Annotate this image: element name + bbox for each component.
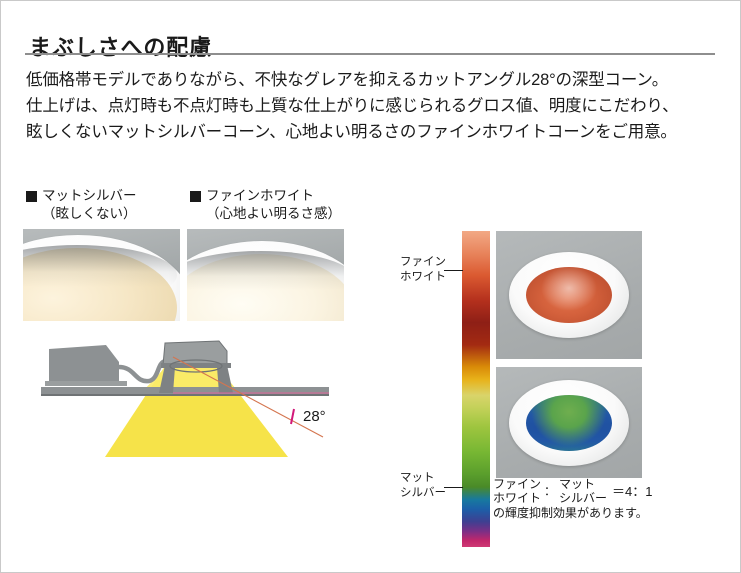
swatch-label-matt-silver: マットシルバー <box>42 187 137 205</box>
ratio-term-matt-silver: マット シルバー <box>559 477 607 505</box>
page-title: まぶしさへの配慮 <box>29 30 212 62</box>
cone-shadow <box>187 251 344 307</box>
swatch-sublabel-fine-white: （心地よい明るさ感） <box>190 205 341 223</box>
scale-label-matt-silver-line2: シルバー <box>400 487 446 499</box>
scale-label-fine-white: ファイン ホワイト <box>400 255 446 285</box>
swatch-caption-matt-silver: マットシルバー （眩しくない） <box>26 187 137 223</box>
cut-angle-diagram: 28° <box>23 331 353 461</box>
luminance-map-matt-silver <box>526 395 612 451</box>
ratio-term1-line1: ファイン <box>493 477 541 491</box>
downlight-photo <box>187 229 344 321</box>
ratio-term1-line2: ホワイト <box>493 491 541 505</box>
ratio-sentence: の輝度抑制効果があります。 <box>493 506 653 521</box>
cut-angle-label: 28° <box>303 408 326 425</box>
ratio-term2-line2: シルバー <box>559 491 607 505</box>
lead-paragraph: 低価格帯モデルでありながら、不快なグレアを抑えるカットアングル28°の深型コーン… <box>26 67 726 145</box>
ratio-term2-line1: マット <box>559 477 607 491</box>
product-photo-matt-silver <box>23 229 180 321</box>
luminance-map-fine-white <box>526 267 612 323</box>
title-divider <box>25 53 715 55</box>
scale-label-fine-white-line2: ホワイト <box>400 271 446 283</box>
lead-line-3: 眩しくないマットシルバーコーン、心地よい明るさのファインホワイトコーンをご用意。 <box>26 119 726 145</box>
swatch-caption-fine-white: ファインホワイト （心地よい明るさ感） <box>190 187 341 223</box>
ratio-value: ＝4：1 <box>609 484 652 499</box>
catalog-page: まぶしさへの配慮 低価格帯モデルでありながら、不快なグレアを抑えるカットアングル… <box>0 0 741 573</box>
ratio-term-fine-white: ファイン ホワイト <box>493 477 541 505</box>
scale-label-matt-silver: マット シルバー <box>400 471 446 501</box>
leader-line-matt-silver <box>444 487 463 488</box>
luminance-photo-fine-white <box>496 231 642 359</box>
driver-base <box>45 381 127 386</box>
ceiling-line-shadow <box>41 394 329 396</box>
lead-line-1: 低価格帯モデルでありながら、不快なグレアを抑えるカットアングル28°の深型コーン… <box>26 67 726 93</box>
scale-label-fine-white-line1: ファイン <box>400 256 446 268</box>
square-bullet-icon <box>26 191 37 202</box>
ratio-expression: ファイン ホワイト ： マット シルバー ＝4：1 <box>493 477 653 505</box>
driver-box <box>49 345 119 383</box>
product-photo-fine-white <box>187 229 344 321</box>
scale-label-matt-silver-line1: マット <box>400 472 435 484</box>
lead-line-2: 仕上げは、点灯時も不点灯時も上質な仕上がりに感じられるグロス値、明度にこだわり、 <box>26 93 726 119</box>
leader-line-fine-white <box>444 270 463 271</box>
square-bullet-icon <box>190 191 201 202</box>
ratio-separator: ： <box>543 484 557 499</box>
swatch-label-fine-white: ファインホワイト <box>206 187 314 205</box>
fixture-housing <box>163 341 227 365</box>
ratio-caption: ファイン ホワイト ： マット シルバー ＝4：1 の輝度抑制効果があります。 <box>493 477 653 521</box>
luminance-photo-matt-silver <box>496 367 642 478</box>
swatch-sublabel-matt-silver: （眩しくない） <box>26 205 137 223</box>
luminance-color-scale <box>462 231 490 547</box>
downlight-photo <box>23 229 180 321</box>
